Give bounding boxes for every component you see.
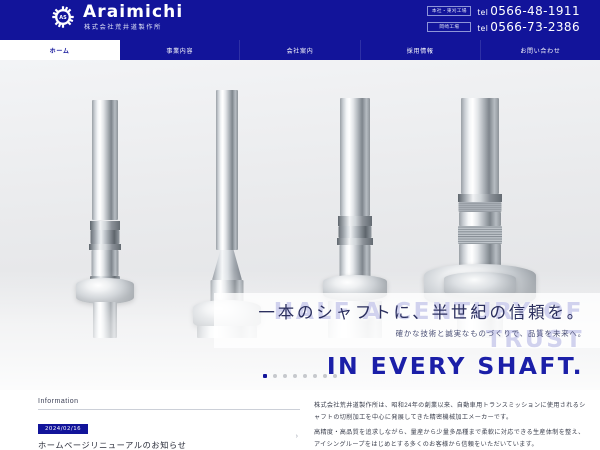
- gear-icon: AS: [52, 6, 74, 28]
- carousel-dot-3[interactable]: [283, 374, 287, 378]
- hero-tagline-sub: 確かな技術と誠実なものづくりで、品質を未来へ。: [234, 328, 586, 339]
- about-paragraph-2: 高精度・高品質を追求しながら、量産から少量多品種まで柔軟に対応できる生産体制を整…: [314, 427, 586, 450]
- tel-prefix-branch: tel: [477, 24, 488, 33]
- page-root: AS Araimichi 株式会社荒井道製作所 本社・東刈工場 tel0566-…: [0, 0, 600, 450]
- nav-label-business: 事業内容: [166, 46, 193, 55]
- carousel-dot-7[interactable]: [323, 374, 327, 378]
- site-header: AS Araimichi 株式会社荒井道製作所 本社・東刈工場 tel0566-…: [0, 0, 600, 40]
- hero-tagline-panel: 一本のシャフトに、半世紀の信頼を。 確かな技術と誠実なものづくりで、品質を未来へ…: [214, 293, 600, 348]
- nav-label-contact: お問い合わせ: [520, 46, 560, 55]
- carousel-dots: [0, 374, 600, 378]
- logo-monogram: AS: [59, 15, 67, 21]
- nav-item-business[interactable]: 事業内容: [120, 40, 240, 60]
- carousel-dot-4[interactable]: [293, 374, 297, 378]
- information-title: Information: [38, 398, 300, 410]
- header-contacts: 本社・東刈工場 tel0566-48-1911 岡崎工場 tel0566-73-…: [427, 4, 580, 34]
- bottom-section: Information 2024/02/16 ホームページリニューアルのお知らせ…: [0, 390, 600, 450]
- tel-digits-main: 0566-48-1911: [490, 4, 580, 18]
- nav-item-recruit[interactable]: 採用情報: [361, 40, 481, 60]
- nav-item-home[interactable]: ホーム: [0, 40, 120, 60]
- news-title[interactable]: ホームページリニューアルのお知らせ: [38, 439, 300, 450]
- carousel-dot-5[interactable]: [303, 374, 307, 378]
- carousel-dot-6[interactable]: [313, 374, 317, 378]
- carousel-dot-1[interactable]: [263, 374, 267, 378]
- information-panel: Information 2024/02/16 ホームページリニューアルのお知らせ…: [38, 398, 300, 450]
- nav-label-company: 会社案内: [287, 46, 314, 55]
- news-date-badge: 2024/02/16: [38, 424, 88, 434]
- tel-prefix-main: tel: [477, 8, 488, 17]
- nav-item-contact[interactable]: お問い合わせ: [481, 40, 600, 60]
- brand-logo[interactable]: AS Araimichi 株式会社荒井道製作所: [52, 4, 183, 31]
- carousel-dot-8[interactable]: [333, 374, 337, 378]
- nav-item-company[interactable]: 会社案内: [240, 40, 360, 60]
- contact-number-main[interactable]: tel0566-48-1911: [477, 4, 580, 18]
- main-navigation: ホーム 事業内容 会社案内 採用情報 お問い合わせ: [0, 40, 600, 60]
- contact-row-main[interactable]: 本社・東刈工場 tel0566-48-1911: [427, 4, 580, 18]
- contact-tag-main: 本社・東刈工場: [427, 6, 471, 17]
- nav-label-recruit: 採用情報: [407, 46, 434, 55]
- carousel-dot-2[interactable]: [273, 374, 277, 378]
- hero-tagline-main: 一本のシャフトに、半世紀の信頼を。: [234, 304, 586, 322]
- about-panel: 株式会社荒井道製作所は、昭和24年の創業以来、自動車用トランスミッションに使用さ…: [314, 398, 586, 450]
- nav-label-home: ホーム: [50, 46, 70, 55]
- news-list-item[interactable]: 2024/02/16 ホームページリニューアルのお知らせ ›: [38, 417, 300, 450]
- contact-row-branch[interactable]: 岡崎工場 tel0566-73-2386: [427, 20, 580, 34]
- brand-name: Araimichi: [83, 4, 183, 21]
- chevron-right-icon: ›: [296, 433, 298, 440]
- brand-subtitle: 株式会社荒井道製作所: [84, 25, 183, 31]
- contact-tag-branch: 岡崎工場: [427, 22, 471, 33]
- tel-digits-branch: 0566-73-2386: [490, 20, 580, 34]
- about-paragraph-1: 株式会社荒井道製作所は、昭和24年の創業以来、自動車用トランスミッションに使用さ…: [314, 400, 586, 424]
- contact-number-branch[interactable]: tel0566-73-2386: [477, 20, 580, 34]
- hero-carousel[interactable]: HALF A CENTURY OF TRUST IN EVERY SHAFT. …: [0, 60, 600, 390]
